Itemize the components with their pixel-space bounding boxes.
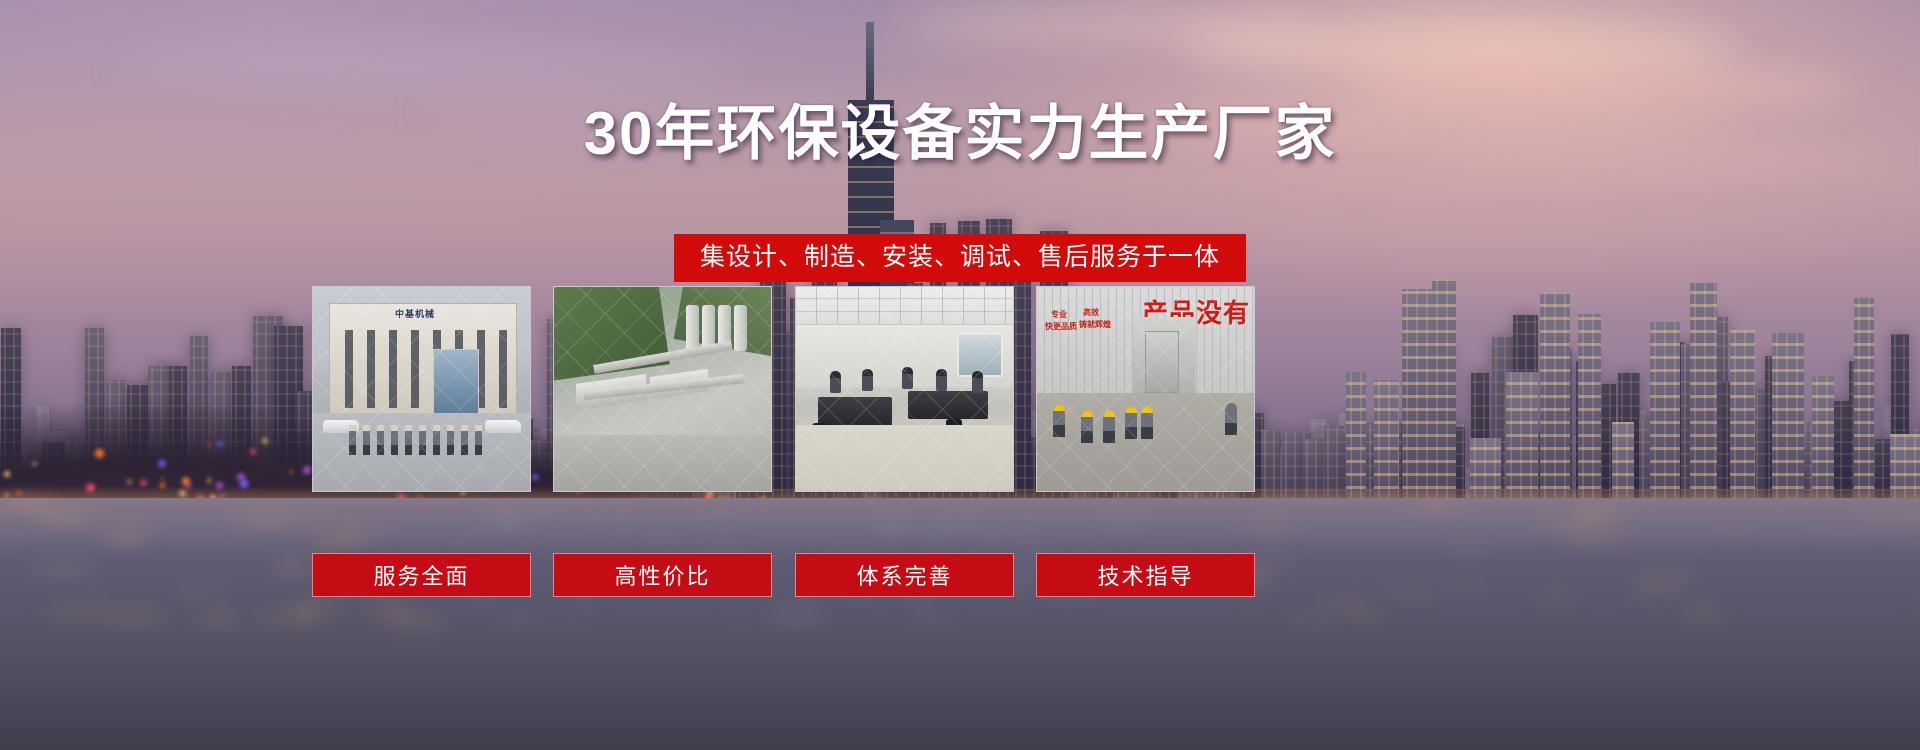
card-photo-office-interior (796, 287, 1013, 491)
card-photo-aerial-plant (554, 287, 771, 491)
decorative-light (127, 479, 132, 484)
water-reflection (464, 533, 513, 540)
watermark-overlay (313, 287, 530, 491)
water-reflection (731, 613, 745, 620)
water-reflection (1558, 533, 1630, 540)
water-reflection (1, 499, 55, 509)
water-reflection (292, 610, 328, 619)
watermark-overlay (796, 287, 1013, 491)
water-reflection (450, 541, 470, 545)
watermark-overlay (554, 287, 771, 491)
water-reflection (43, 609, 111, 613)
water-reflection (1378, 584, 1442, 591)
feature-card-service[interactable]: 中基机械 (312, 286, 531, 492)
water-reflection (101, 531, 150, 541)
decorative-light (182, 477, 190, 485)
water-reflection (1537, 522, 1597, 526)
water-reflection (89, 592, 111, 598)
water-reflection (674, 549, 745, 552)
skyline-building-lit (1690, 283, 1717, 520)
water-reflection (644, 543, 680, 548)
card-photo-workshop: 产品没有 专业 快更品质 高效 铸就辉煌 (1037, 287, 1254, 491)
water-reflection (4, 535, 20, 540)
water-reflection (1679, 607, 1725, 617)
water-reflection (493, 614, 541, 624)
decorative-light (95, 449, 103, 457)
decorative-light (217, 441, 223, 447)
water-reflection (28, 566, 100, 571)
water-reflection (1410, 498, 1462, 506)
water-reflection (965, 534, 1019, 539)
water-reflection (1349, 608, 1388, 617)
water-reflection (687, 519, 754, 524)
decorative-light (4, 471, 10, 477)
subtitle-bar: 集设计、制造、安装、调试、售后服务于一体 (674, 234, 1246, 282)
feature-card-system[interactable] (795, 286, 1014, 492)
card-caption-value[interactable]: 高性价比 (553, 553, 772, 597)
water-reflection (460, 599, 496, 608)
water-reflection (177, 587, 195, 595)
feature-card-list: 中基机械 (312, 286, 1612, 494)
water-reflection (614, 522, 632, 526)
water-reflection (564, 599, 601, 607)
decorative-light (207, 443, 211, 447)
card-caption-guidance[interactable]: 技术指导 (1036, 553, 1255, 597)
watermark-overlay (1037, 287, 1254, 491)
decorative-light (250, 449, 255, 454)
water-reflection (537, 506, 552, 512)
decorative-light (262, 438, 268, 444)
water-reflection (767, 611, 825, 620)
feature-card-guidance[interactable]: 产品没有 专业 快更品质 高效 铸就辉煌 (1036, 286, 1255, 492)
water-reflection (878, 523, 909, 532)
water-reflection (941, 522, 982, 526)
water-reflection (478, 516, 537, 522)
card-photo-office-building: 中基机械 (313, 287, 530, 491)
card-caption-service[interactable]: 服务全面 (312, 553, 531, 597)
card-caption-system[interactable]: 体系完善 (795, 553, 1014, 597)
water-reflection (1239, 527, 1300, 534)
water-reflection (1311, 598, 1359, 602)
water-reflection (1623, 587, 1684, 594)
water-reflection (1102, 517, 1146, 522)
decorative-light (33, 462, 37, 466)
water-reflection (235, 513, 300, 523)
water-reflection (1443, 580, 1488, 584)
decorative-light (158, 460, 166, 468)
water-reflection (1446, 547, 1489, 554)
decorative-light (207, 478, 211, 482)
water-reflection (1915, 602, 1920, 610)
page-title: 30年环保设备实力生产厂家 (0, 104, 1920, 164)
water-reflection (916, 530, 963, 535)
water-reflection (920, 602, 936, 609)
water-reflection (1721, 529, 1747, 536)
water-reflection (1290, 615, 1337, 622)
water-reflection (382, 617, 447, 625)
water-reflection (207, 615, 236, 622)
subtitle-bar-wrapper: 集设计、制造、安装、调试、售后服务于一体 (0, 234, 1920, 282)
hero-banner: 30年环保设备实力生产厂家 集设计、制造、安装、调试、售后服务于一体 中基机械 (0, 0, 1920, 750)
river (0, 498, 1920, 750)
water-reflection (273, 562, 310, 571)
water-reflection (590, 515, 605, 522)
water-reflection (1531, 592, 1581, 599)
water-reflection (286, 602, 350, 607)
water-reflection (533, 616, 597, 619)
water-reflection (97, 613, 167, 620)
water-reflection (1861, 516, 1920, 520)
water-reflection (1810, 533, 1879, 536)
water-reflection (1245, 607, 1261, 613)
water-reflection (905, 617, 954, 621)
water-reflection (366, 604, 410, 612)
water-reflection (1634, 575, 1697, 582)
decorative-light (289, 470, 294, 475)
decorative-light (161, 477, 165, 481)
water-reflection (327, 545, 346, 551)
feature-card-value[interactable] (553, 286, 772, 492)
water-reflection (1572, 510, 1620, 519)
water-reflection (1018, 528, 1032, 534)
decorative-light (303, 466, 311, 474)
water-reflection (32, 512, 98, 520)
water-reflection (300, 520, 326, 529)
